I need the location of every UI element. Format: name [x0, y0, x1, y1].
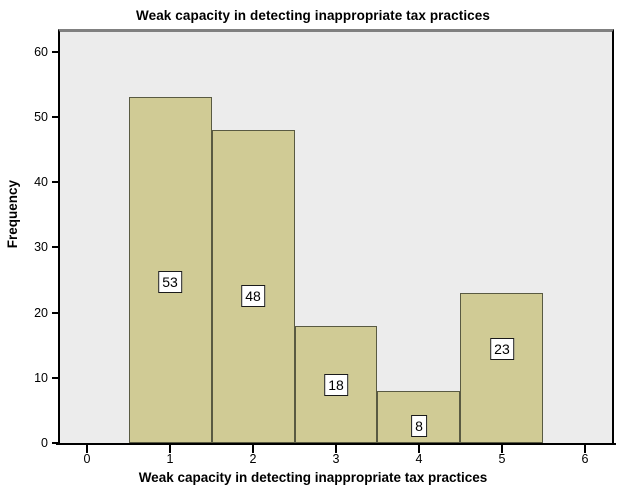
bar-value-label: 23	[490, 338, 514, 360]
y-axis-tick-mark	[52, 377, 58, 379]
x-axis-title: Weak capacity in detecting inappropriate…	[0, 470, 626, 485]
x-axis-tick-label: 0	[72, 452, 102, 466]
y-axis-title: Frequency	[5, 180, 27, 248]
histogram-chart: Weak capacity in detecting inappropriate…	[0, 0, 626, 501]
y-axis-tick-label: 10	[8, 371, 48, 385]
bar	[460, 293, 543, 443]
y-axis-tick-label: 30	[8, 240, 48, 254]
y-axis-tick-label: 40	[8, 175, 48, 189]
y-axis-tick-mark	[52, 442, 58, 444]
y-axis-tick-mark	[52, 312, 58, 314]
y-axis-tick-mark	[52, 116, 58, 118]
x-axis-tick-label: 4	[404, 452, 434, 466]
bar	[129, 97, 212, 443]
x-axis-tick-label: 6	[570, 452, 600, 466]
y-axis-tick-label: 0	[8, 436, 48, 450]
y-axis-tick-mark	[52, 246, 58, 248]
bar-value-label: 8	[411, 415, 427, 437]
x-axis-tick-label: 5	[487, 452, 517, 466]
chart-title: Weak capacity in detecting inappropriate…	[0, 8, 626, 23]
y-axis-tick-label: 20	[8, 306, 48, 320]
x-axis-tick-label: 2	[238, 452, 268, 466]
y-axis-tick-mark	[52, 51, 58, 53]
y-axis-tick-label: 60	[8, 45, 48, 59]
y-axis-tick-label: 50	[8, 110, 48, 124]
y-axis-tick-mark	[52, 181, 58, 183]
bar-value-label: 53	[158, 271, 182, 293]
bar-value-label: 18	[324, 374, 348, 396]
x-axis-tick-label: 3	[321, 452, 351, 466]
bar-value-label: 48	[241, 285, 265, 307]
x-axis-tick-label: 1	[155, 452, 185, 466]
